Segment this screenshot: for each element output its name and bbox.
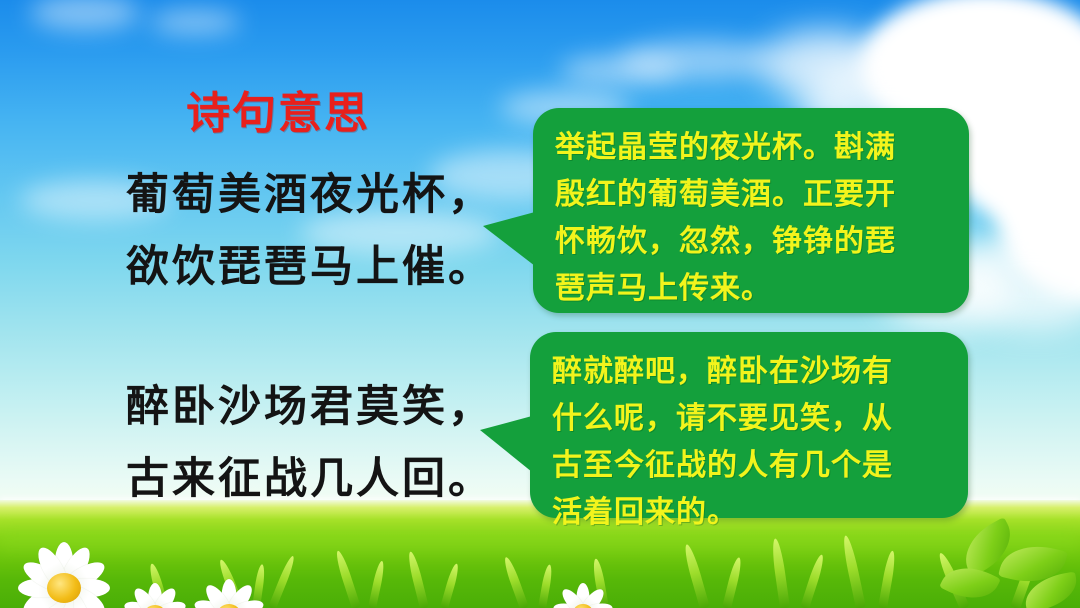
callout-line: 殷红的葡萄美酒。正要开: [555, 171, 949, 218]
callout-line: 什么呢，请不要见笑，从: [552, 395, 948, 442]
callout-tail-icon: [480, 416, 532, 472]
cloud-icon: [150, 10, 240, 34]
callout-text: 醉就醉吧，醉卧在沙场有 什么呢，请不要见笑，从 古至今征战的人有几个是 活着回来…: [552, 348, 948, 536]
callout-tail-icon: [483, 212, 535, 266]
slide-canvas: 诗句意思 葡萄美酒夜光杯， 欲饮琵琶马上催。 醉卧沙场君莫笑， 古来征战几人回。…: [0, 0, 1080, 608]
daisy-flower-icon: [10, 534, 118, 608]
callout-line: 怀畅饮，忽然，铮铮的琵: [555, 218, 949, 265]
callout-line: 琶声马上传来。: [555, 265, 949, 312]
callout-text: 举起晶莹的夜光杯。斟满 殷红的葡萄美酒。正要开 怀畅饮，忽然，铮铮的琵 琶声马上…: [555, 124, 949, 312]
callout-line: 举起晶莹的夜光杯。斟满: [555, 124, 949, 171]
poem-line: 古来征战几人回。: [126, 444, 494, 516]
cloud-icon: [760, 30, 890, 100]
callout-line: 活着回来的。: [552, 489, 948, 536]
poem-line: 欲饮琵琶马上催。: [126, 232, 494, 304]
page-title: 诗句意思: [186, 92, 370, 136]
callout-line: 醉就醉吧，醉卧在沙场有: [552, 348, 948, 395]
daisy-flower-icon: [548, 578, 618, 608]
cloud-icon: [560, 55, 680, 85]
poem-line: 醉卧沙场君莫笑，: [126, 372, 494, 444]
daisy-flower-icon: [186, 572, 272, 608]
translation-callout-one: 举起晶莹的夜光杯。斟满 殷红的葡萄美酒。正要开 怀畅饮，忽然，铮铮的琵 琶声马上…: [533, 108, 969, 313]
poem-stanza-one: 葡萄美酒夜光杯， 欲饮琵琶马上催。: [126, 160, 494, 304]
callout-line: 古至今征战的人有几个是: [552, 442, 948, 489]
translation-callout-two: 醉就醉吧，醉卧在沙场有 什么呢，请不要见笑，从 古至今征战的人有几个是 活着回来…: [530, 332, 968, 518]
poem-line: 葡萄美酒夜光杯，: [126, 160, 494, 232]
daisy-flower-icon: [118, 578, 192, 608]
poem-stanza-two: 醉卧沙场君莫笑， 古来征战几人回。: [126, 372, 494, 516]
